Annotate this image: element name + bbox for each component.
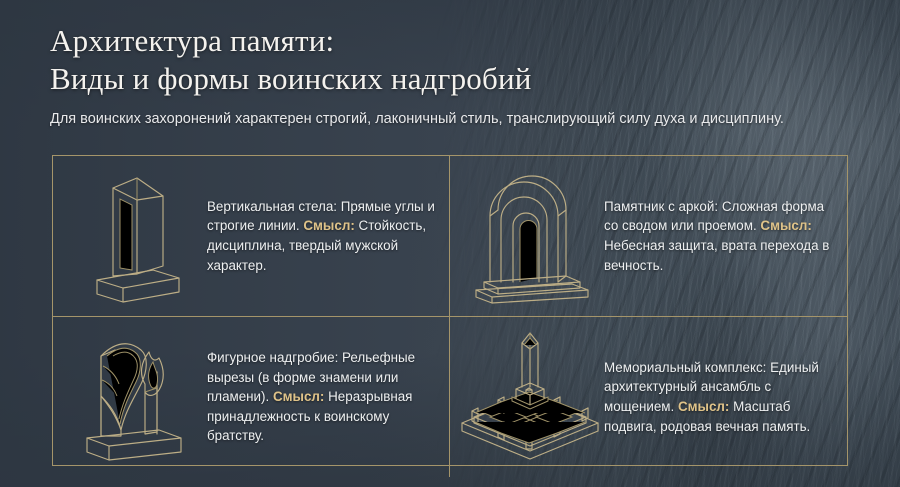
cards-grid: Вертикальная стела: Прямые углы и строги… — [52, 155, 848, 466]
card-text: Вертикальная стела: Прямые углы и строги… — [207, 197, 439, 275]
page-subtitle: Для воинских захоронений характерен стро… — [50, 109, 810, 130]
figured-headstone-icon — [63, 323, 203, 471]
memorial-complex-icon — [460, 323, 600, 471]
card-figured-headstone[interactable]: Фигурное надгробие: Рельефные вырезы (в … — [53, 317, 450, 477]
card-arch-monument[interactable]: Памятник с аркой: Сложная форма со сводо… — [450, 156, 847, 317]
meaning-label: Смысл: — [678, 399, 729, 414]
card-vertical-stele[interactable]: Вертикальная стела: Прямые углы и строги… — [53, 156, 450, 317]
slide-root: Архитектура памяти: Виды и формы воински… — [0, 0, 900, 487]
card-text: Мемориальный комплекс: Единый архитектур… — [604, 358, 837, 436]
card-text: Фигурное надгробие: Рельефные вырезы (в … — [207, 348, 439, 446]
meaning-label: Смысл: — [273, 389, 324, 404]
arch-monument-icon — [460, 162, 600, 310]
header: Архитектура памяти: Виды и формы воински… — [50, 22, 840, 130]
page-title-line-1: Архитектура памяти: — [50, 22, 840, 60]
card-heading: Мемориальный комплекс: — [604, 360, 766, 375]
card-heading: Вертикальная стела: — [207, 199, 337, 214]
card-meaning: Небесная защита, врата перехода в вечнос… — [604, 238, 829, 273]
card-heading: Памятник с аркой: — [604, 199, 718, 214]
card-memorial-complex[interactable]: Мемориальный комплекс: Единый архитектур… — [450, 317, 847, 477]
vertical-stele-icon — [63, 162, 203, 310]
page-title-line-2: Виды и формы воинских надгробий — [50, 60, 840, 98]
card-text: Памятник с аркой: Сложная форма со сводо… — [604, 197, 837, 275]
meaning-label: Смысл: — [303, 218, 354, 233]
meaning-label: Смысл: — [760, 218, 811, 233]
card-heading: Фигурное надгробие: — [207, 350, 338, 365]
